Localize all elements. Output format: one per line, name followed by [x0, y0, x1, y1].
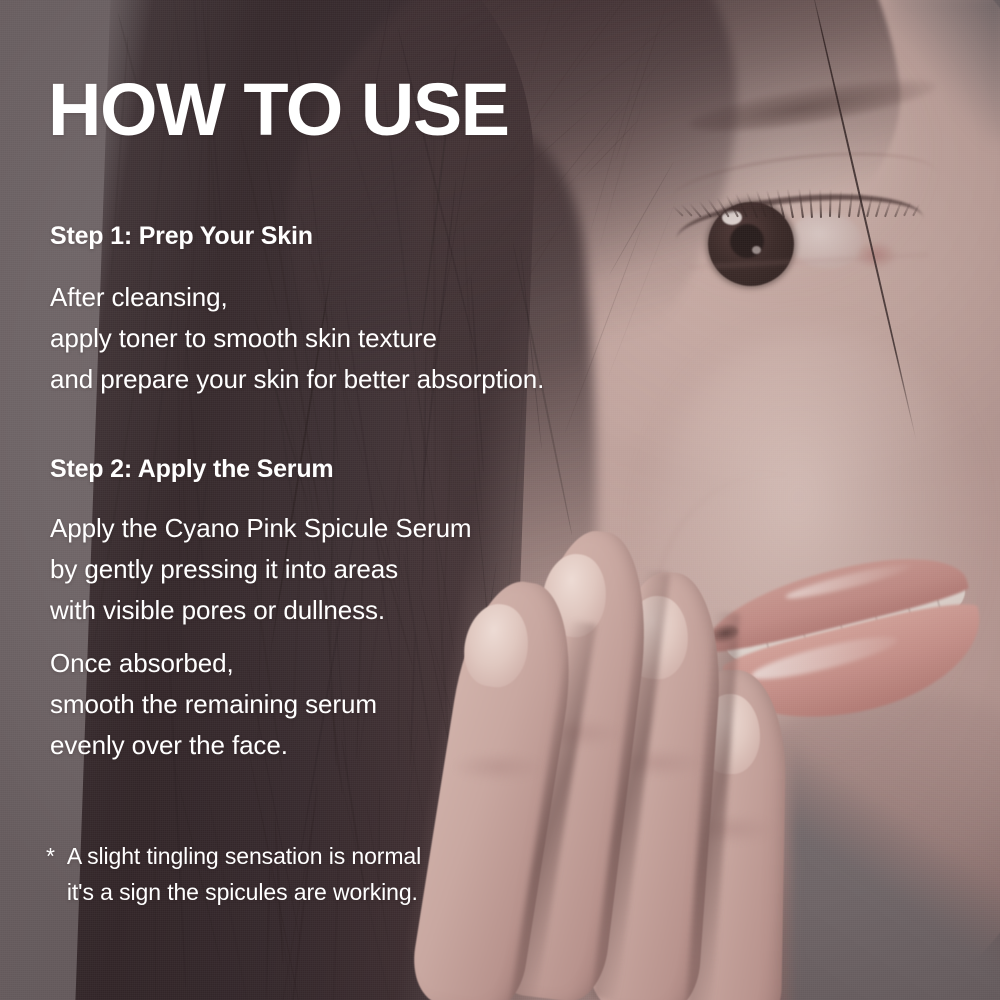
step-1-heading: Step 1: Prep Your Skin	[50, 222, 313, 251]
footnote: * A slight tingling sensation is normal …	[46, 838, 421, 910]
step-2-heading: Step 2: Apply the Serum	[50, 455, 333, 484]
footnote-text: A slight tingling sensation is normal it…	[67, 838, 421, 910]
footnote-asterisk: *	[46, 838, 55, 910]
step-2-paragraph-1: Apply the Cyano Pink Spicule Serum by ge…	[50, 508, 472, 631]
knuckle-crease	[453, 752, 543, 782]
step-1-paragraph: After cleansing, apply toner to smooth s…	[50, 277, 544, 400]
instruction-card: HOW TO USE Step 1: Prep Your Skin After …	[0, 0, 1000, 1000]
step-2-paragraph-2: Once absorbed, smooth the remaining seru…	[50, 643, 377, 766]
page-title: HOW TO USE	[48, 73, 509, 147]
